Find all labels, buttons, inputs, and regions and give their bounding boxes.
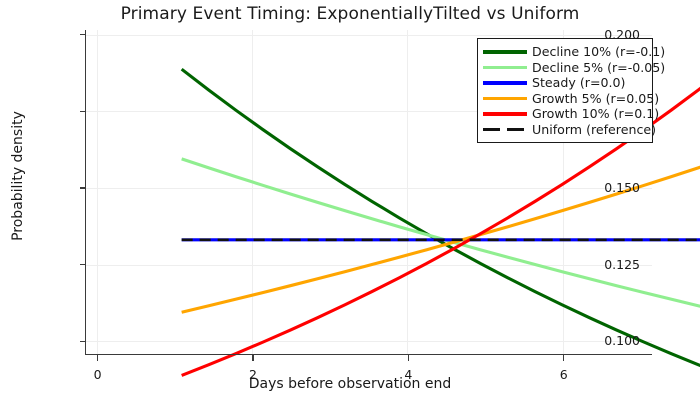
legend-color-swatch bbox=[483, 60, 527, 75]
x-tick-mark bbox=[97, 355, 98, 361]
legend-item[interactable]: Growth 10% (r=0.1) bbox=[483, 106, 646, 122]
legend-label: Growth 10% (r=0.1) bbox=[532, 106, 659, 121]
legend[interactable]: Decline 10% (r=-0.1)Decline 5% (r=-0.05)… bbox=[477, 38, 653, 143]
legend-color-swatch bbox=[483, 122, 527, 137]
legend-item[interactable]: Growth 5% (r=0.05) bbox=[483, 91, 646, 107]
legend-color-swatch bbox=[483, 91, 527, 106]
chart-figure: Primary Event Timing: ExponentiallyTilte… bbox=[0, 0, 700, 400]
legend-item[interactable]: Decline 10% (r=-0.1) bbox=[483, 44, 646, 60]
legend-item[interactable]: Uniform (reference) bbox=[483, 122, 646, 138]
legend-label: Growth 5% (r=0.05) bbox=[532, 91, 659, 106]
series-line bbox=[182, 159, 700, 312]
legend-color-swatch bbox=[483, 75, 527, 90]
chart-title: Primary Event Timing: ExponentiallyTilte… bbox=[0, 4, 700, 24]
legend-color-swatch bbox=[483, 44, 527, 59]
legend-item[interactable]: Steady (r=0.0) bbox=[483, 75, 646, 91]
legend-item[interactable]: Decline 5% (r=-0.05) bbox=[483, 60, 646, 76]
series-line bbox=[182, 159, 700, 312]
gridline-horizontal bbox=[85, 35, 652, 36]
legend-label: Decline 5% (r=-0.05) bbox=[532, 60, 665, 75]
legend-color-swatch bbox=[483, 106, 527, 121]
legend-label: Steady (r=0.0) bbox=[532, 75, 625, 90]
legend-label: Decline 10% (r=-0.1) bbox=[532, 44, 665, 59]
y-axis-label: Probability density bbox=[10, 61, 26, 291]
legend-label: Uniform (reference) bbox=[532, 122, 656, 137]
gridline-vertical bbox=[97, 30, 98, 355]
